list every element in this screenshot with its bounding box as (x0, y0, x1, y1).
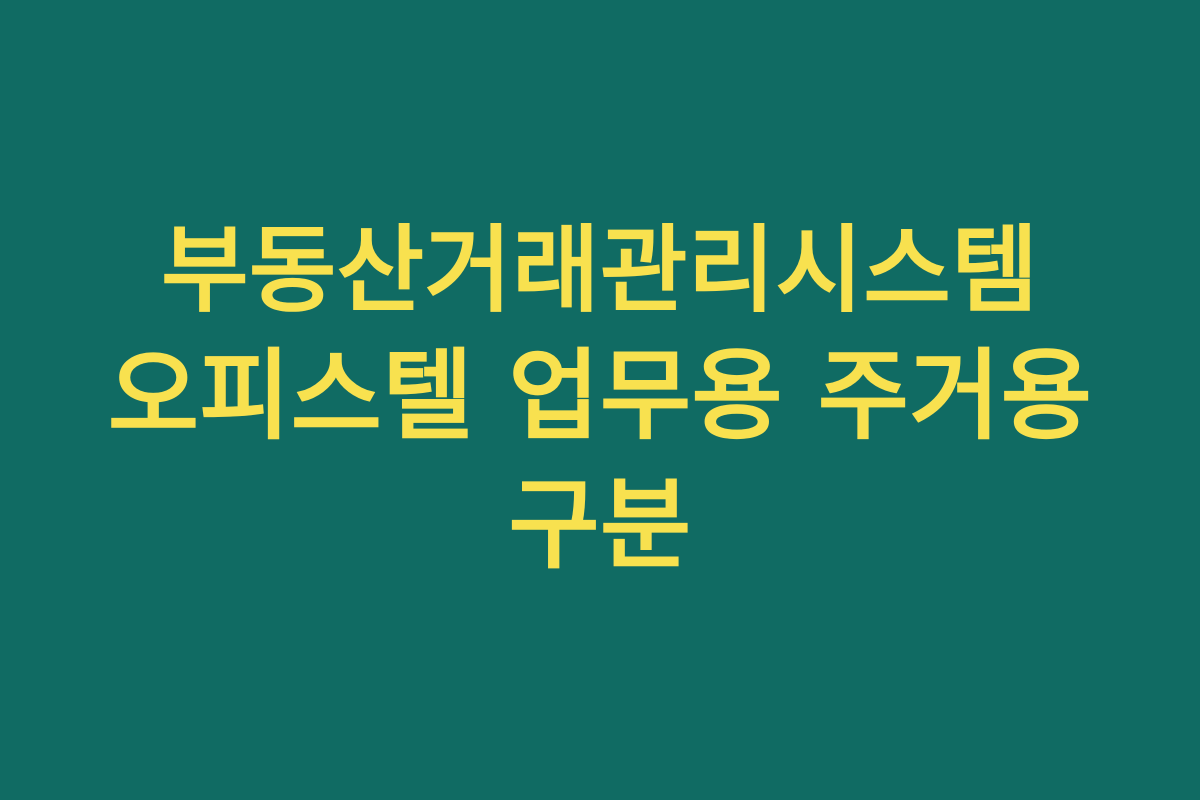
page-title-line-3: 구분 (40, 462, 1160, 591)
page-title-line-1: 부동산거래관리시스템 (40, 210, 1160, 334)
page-title-line-2: 오피스텔 업무용 주거용 (40, 333, 1160, 462)
banner-canvas: 부동산거래관리시스템 오피스텔 업무용 주거용 구분 (0, 0, 1200, 800)
page-title: 부동산거래관리시스템 오피스텔 업무용 주거용 구분 (40, 210, 1160, 591)
